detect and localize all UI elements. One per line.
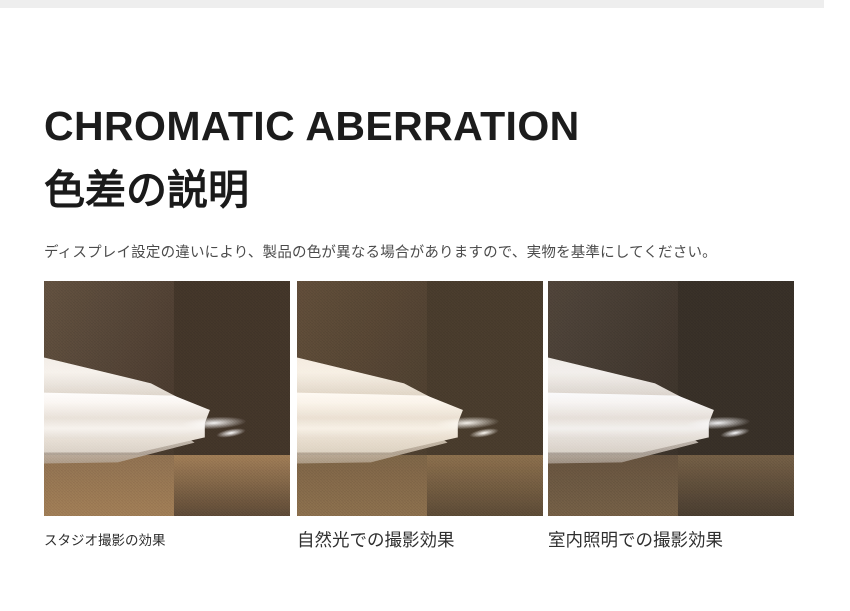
image-caption-indoor-light: 室内照明での撮影効果 [548,527,723,552]
image-caption-studio: スタジオ撮影の効果 [44,529,166,549]
photo-floor-left [297,455,427,516]
image-caption-natural-light: 自然光での撮影効果 [297,527,455,552]
gallery-image-studio[interactable] [44,281,290,516]
photo-floor-left [548,455,678,516]
product-photo [548,281,794,516]
product-photo [297,281,543,516]
color-disclaimer-text: ディスプレイ設定の違いにより、製品の色が異なる場合がありますので、実物を基準にし… [44,243,717,265]
page-title-english: CHROMATIC ABERRATION [44,105,580,148]
top-divider-strip [0,0,824,8]
product-image-gallery [44,281,794,516]
product-photo [44,281,290,516]
gallery-image-indoor-light[interactable] [548,281,794,516]
gallery-image-natural-light[interactable] [297,281,543,516]
page-title-japanese: 色差の説明 [44,167,249,214]
product-color-note-page: CHROMATIC ABERRATION 色差の説明 ディスプレイ設定の違いによ… [0,0,850,611]
photo-floor-left [44,455,174,516]
